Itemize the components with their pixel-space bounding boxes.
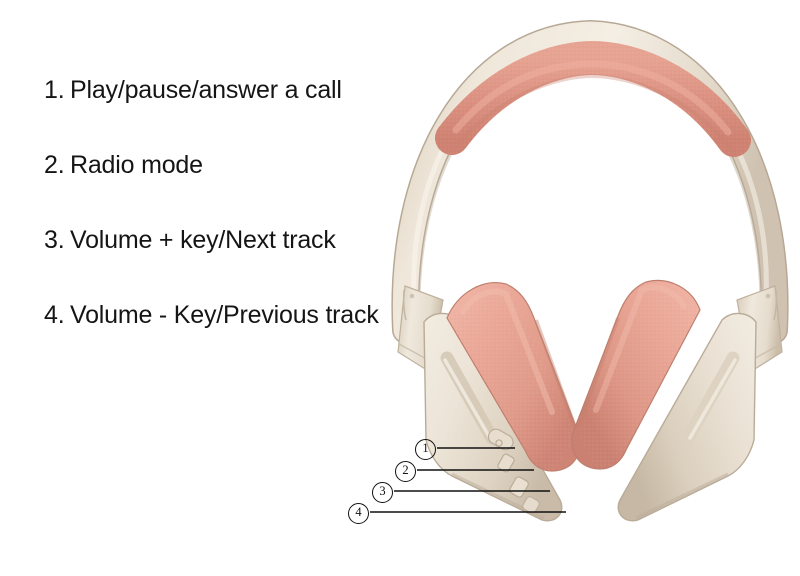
feature-item-1-label: Play/pause/answer a call (70, 78, 342, 103)
feature-item-3-number: 3. (44, 228, 70, 253)
feature-item-1: 1. Play/pause/answer a call (44, 78, 424, 153)
feature-item-4-number: 4. (44, 303, 70, 328)
feature-item-2-label: Radio mode (70, 153, 203, 178)
callout-marker-4: 4 (348, 503, 369, 524)
feature-item-3-label: Volume + key/Next track (70, 228, 336, 253)
callout-marker-3: 3 (372, 482, 393, 503)
feature-item-2: 2. Radio mode (44, 153, 424, 228)
feature-item-4-label: Volume - Key/Previous track (70, 303, 379, 328)
feature-item-3: 3. Volume + key/Next track (44, 228, 424, 303)
diagram-canvas: 1. Play/pause/answer a call 2. Radio mod… (0, 0, 800, 576)
feature-item-2-number: 2. (44, 153, 70, 178)
feature-list: 1. Play/pause/answer a call 2. Radio mod… (44, 78, 424, 378)
headband-arc (405, 34, 774, 332)
feature-item-1-number: 1. (44, 78, 70, 103)
callout-marker-1: 1 (415, 439, 436, 460)
callout-marker-2: 2 (395, 461, 416, 482)
feature-item-4: 4. Volume - Key/Previous track (44, 303, 424, 378)
